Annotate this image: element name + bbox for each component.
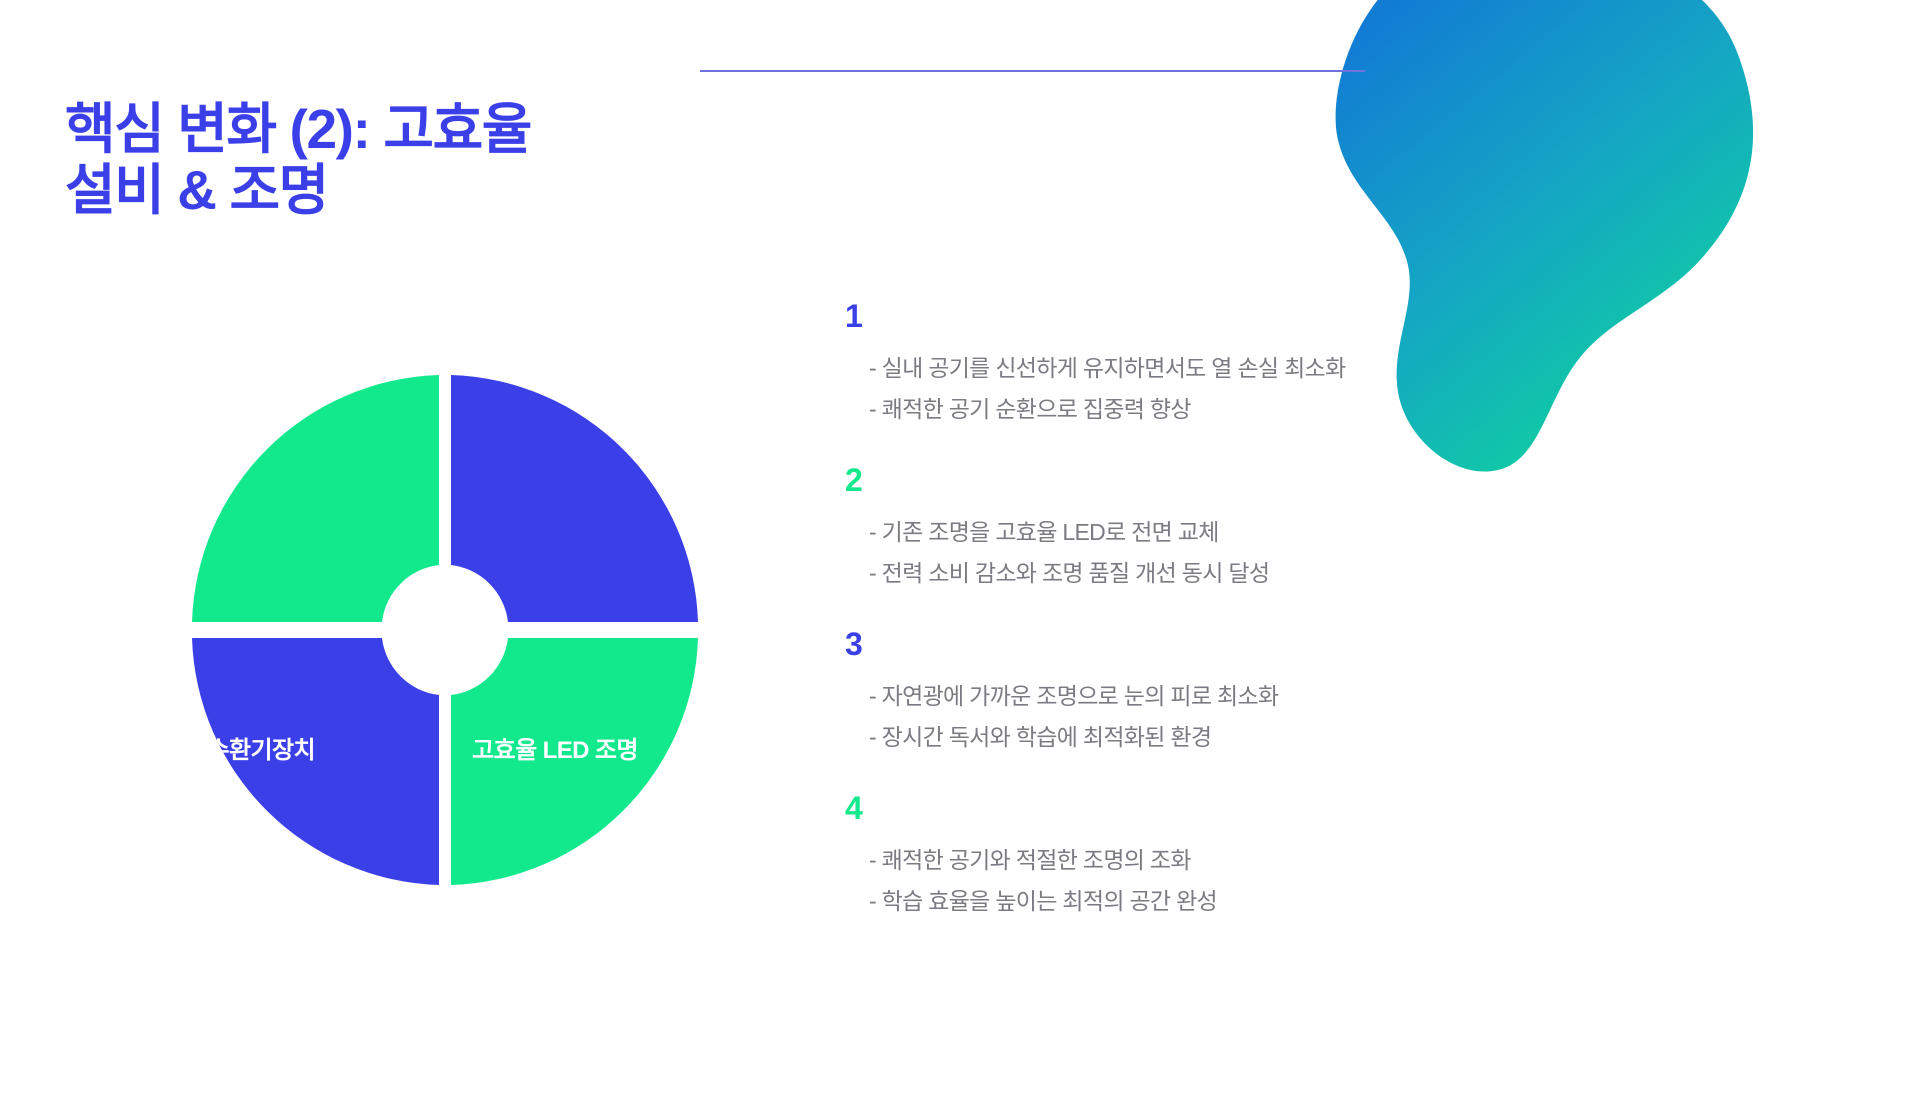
point-number-2: 2 <box>845 464 1605 496</box>
point-lines-2: - 기존 조명을 고효율 LED로 전면 교체 - 전력 소비 감소와 조명 품… <box>845 512 1605 594</box>
point-block-3: 3 - 자연광에 가까운 조명으로 눈의 피로 최소화 - 장시간 독서와 학습… <box>845 628 1605 758</box>
donut-label-bottom-right: 집중력 향상 학습 환경 <box>445 1045 665 1107</box>
donut-segment-top-right[interactable] <box>451 375 698 622</box>
point-number-3: 3 <box>845 628 1605 660</box>
point-line: - 자연광에 가까운 조명으로 눈의 피로 최소화 <box>869 676 1605 717</box>
donut-label-top-left: 폐열회수환기장치 <box>119 735 339 766</box>
donut-chart: 폐열회수환기장치 고효율 LED 조명 눈의 피로도 감소 집중력 향상 학습 … <box>95 280 795 980</box>
point-line: - 실내 공기를 신선하게 유지하면서도 열 손실 최소화 <box>869 348 1605 389</box>
point-block-2: 2 - 기존 조명을 고효율 LED로 전면 교체 - 전력 소비 감소와 조명… <box>845 464 1605 594</box>
point-lines-4: - 쾌적한 공기와 적절한 조명의 조화 - 학습 효율을 높이는 최적의 공간… <box>845 840 1605 922</box>
donut-label-top-right: 고효율 LED 조명 <box>445 735 665 766</box>
point-line: - 기존 조명을 고효율 LED로 전면 교체 <box>869 512 1605 553</box>
point-number-1: 1 <box>845 300 1605 332</box>
point-line: - 쾌적한 공기 순환으로 집중력 향상 <box>869 389 1605 430</box>
title-divider-rule <box>700 70 1365 72</box>
point-line: - 장시간 독서와 학습에 최적화된 환경 <box>869 717 1605 758</box>
points-list: 1 - 실내 공기를 신선하게 유지하면서도 열 손실 최소화 - 쾌적한 공기… <box>845 300 1605 922</box>
point-lines-1: - 실내 공기를 신선하게 유지하면서도 열 손실 최소화 - 쾌적한 공기 순… <box>845 348 1605 430</box>
point-number-4: 4 <box>845 792 1605 824</box>
point-line: - 전력 소비 감소와 조명 품질 개선 동시 달성 <box>869 553 1605 594</box>
page-title: 핵심 변화 (2): 고효율 설비 & 조명 <box>65 99 765 222</box>
point-lines-3: - 자연광에 가까운 조명으로 눈의 피로 최소화 - 장시간 독서와 학습에 … <box>845 676 1605 758</box>
point-line: - 학습 효율을 높이는 최적의 공간 완성 <box>869 881 1605 922</box>
point-block-1: 1 - 실내 공기를 신선하게 유지하면서도 열 손실 최소화 - 쾌적한 공기… <box>845 300 1605 430</box>
donut-label-bottom-left: 눈의 피로도 감소 <box>119 1045 339 1076</box>
donut-segment-top-left[interactable] <box>192 375 439 622</box>
point-line: - 쾌적한 공기와 적절한 조명의 조화 <box>869 840 1605 881</box>
stripe-pattern-upper <box>1550 8 1920 338</box>
point-block-4: 4 - 쾌적한 공기와 적절한 조명의 조화 - 학습 효율을 높이는 최적의 … <box>845 792 1605 922</box>
